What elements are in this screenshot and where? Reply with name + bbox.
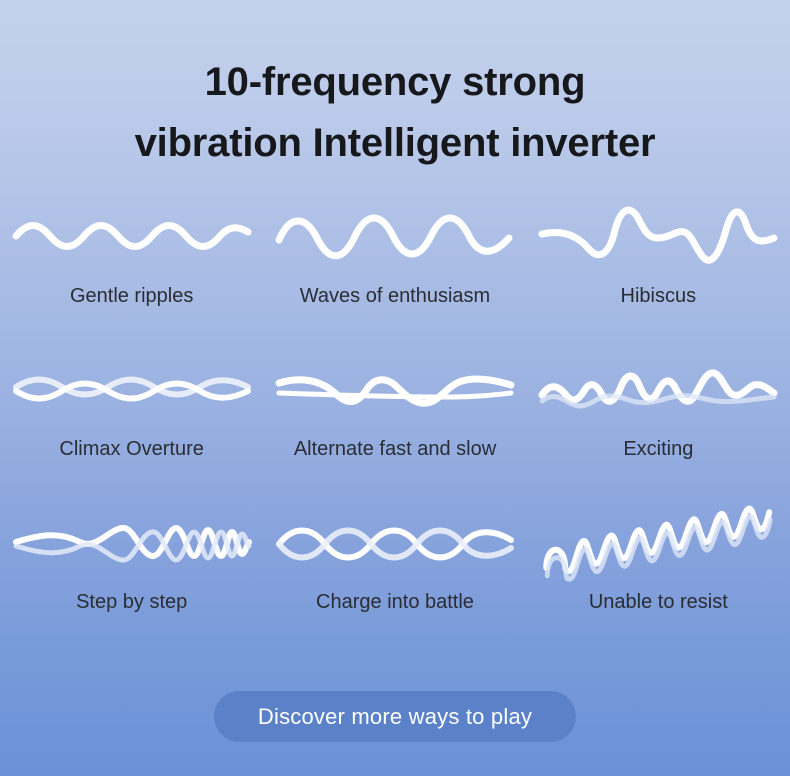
waveform-charge-into-battle-icon <box>275 506 515 578</box>
waveform-step-by-step-icon <box>12 506 252 578</box>
mode-label: Hibiscus <box>621 286 697 306</box>
waveform-waves-of-enthusiasm-icon <box>275 200 515 272</box>
mode-item-hibiscus[interactable]: Hibiscus <box>527 200 790 353</box>
page-title: 10-frequency strong vibration Intelligen… <box>45 52 745 174</box>
waveform-hibiscus-icon <box>538 200 778 272</box>
waveform-alternate-fast-and-slow-icon <box>275 353 515 425</box>
discover-more-ways-to-play-button[interactable]: Discover more ways to play <box>214 691 576 742</box>
cta-container: Discover more ways to play <box>0 691 790 742</box>
waveform-gentle-ripples-icon <box>12 200 252 272</box>
mode-label: Unable to resist <box>589 592 728 612</box>
mode-item-gentle-ripples[interactable]: Gentle ripples <box>0 200 263 353</box>
mode-label: Climax Overture <box>59 439 203 459</box>
mode-label: Waves of enthusiasm <box>300 286 490 306</box>
vibration-modes-grid: Gentle ripples Waves of enthusiasm Hibis… <box>0 200 790 659</box>
mode-label: Exciting <box>623 439 693 459</box>
mode-item-exciting[interactable]: Exciting <box>527 353 790 506</box>
mode-label: Gentle ripples <box>70 286 193 306</box>
waveform-climax-overture-icon <box>12 353 252 425</box>
waveform-unable-to-resist-icon <box>538 506 778 578</box>
mode-item-alternate-fast-and-slow[interactable]: Alternate fast and slow <box>263 353 526 506</box>
page-title-line-2: vibration Intelligent inverter <box>45 113 745 174</box>
promo-page: 10-frequency strong vibration Intelligen… <box>0 0 790 776</box>
page-title-line-1: 10-frequency strong <box>45 52 745 113</box>
mode-label: Charge into battle <box>316 592 474 612</box>
waveform-exciting-icon <box>538 353 778 425</box>
mode-item-charge-into-battle[interactable]: Charge into battle <box>263 506 526 659</box>
mode-item-waves-of-enthusiasm[interactable]: Waves of enthusiasm <box>263 200 526 353</box>
mode-item-climax-overture[interactable]: Climax Overture <box>0 353 263 506</box>
mode-label: Alternate fast and slow <box>294 439 496 459</box>
mode-item-step-by-step[interactable]: Step by step <box>0 506 263 659</box>
mode-label: Step by step <box>76 592 187 612</box>
mode-item-unable-to-resist[interactable]: Unable to resist <box>527 506 790 659</box>
